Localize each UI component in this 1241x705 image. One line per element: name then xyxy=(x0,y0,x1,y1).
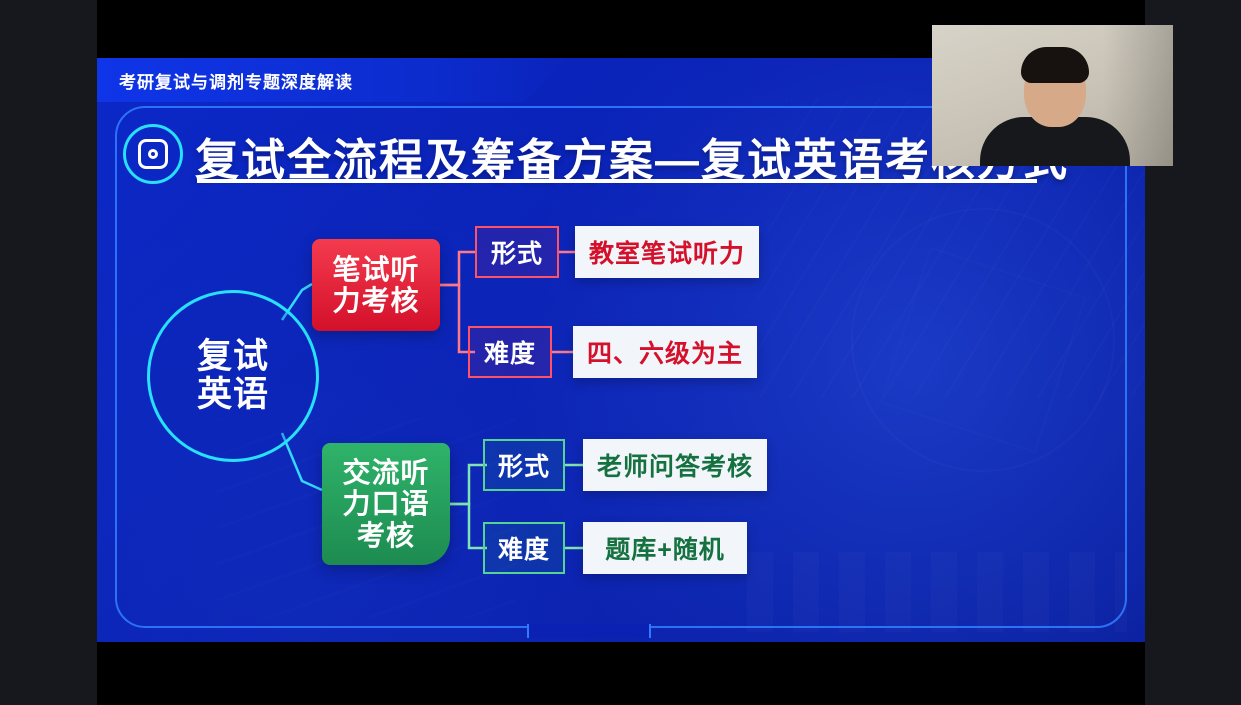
video-band-bottom xyxy=(97,642,1145,705)
root-node-label-line2: 英语 xyxy=(197,376,269,414)
value-oral-form: 老师问答考核 xyxy=(583,439,767,491)
attr-written-form: 形式 xyxy=(475,226,559,278)
branch-written-title-line1: 笔试听 xyxy=(332,254,419,285)
root-node-label: 复试 英语 xyxy=(197,338,269,414)
attr-written-difficulty: 难度 xyxy=(468,326,552,378)
branch-written-title: 笔试听 力考核 xyxy=(312,239,440,331)
attr-oral-difficulty: 难度 xyxy=(483,522,565,574)
branch-oral-title-line2: 力口语 xyxy=(342,488,429,519)
presenter-video[interactable] xyxy=(932,25,1173,166)
screen: 考研复试与调剂专题深度解读 复试全流程及筹备方案—复试英语考核方式 xyxy=(0,0,1241,705)
letterbox-left xyxy=(0,0,97,705)
value-oral-difficulty: 题库+随机 xyxy=(583,522,747,574)
branch-oral-title-line3: 考核 xyxy=(342,520,429,551)
presenter-hair xyxy=(1021,47,1089,83)
value-written-form: 教室笔试听力 xyxy=(575,226,759,278)
branch-oral-title-line1: 交流听 xyxy=(342,457,429,488)
attr-oral-form: 形式 xyxy=(483,439,565,491)
branch-written-title-line2: 力考核 xyxy=(332,285,419,316)
value-written-difficulty: 四、六级为主 xyxy=(573,326,757,378)
branch-oral-title: 交流听 力口语 考核 xyxy=(322,443,450,565)
root-node-label-line1: 复试 xyxy=(197,338,269,376)
root-node: 复试 英语 xyxy=(147,290,319,462)
